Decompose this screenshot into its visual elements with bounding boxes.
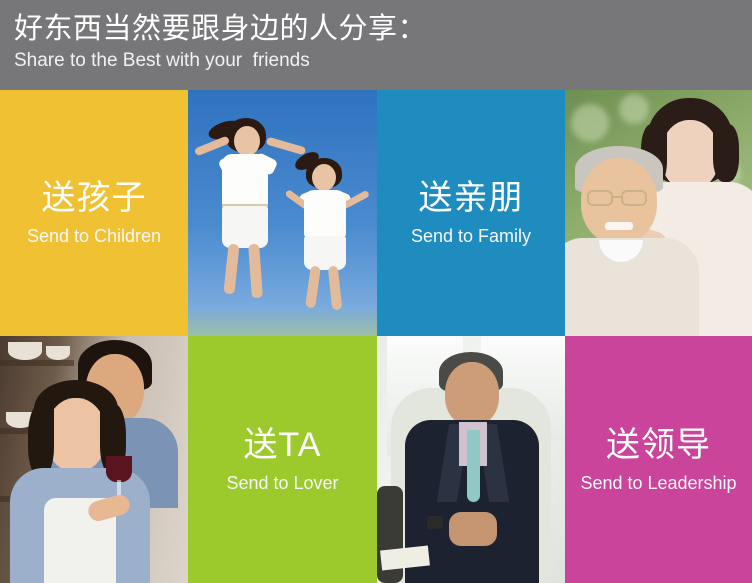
header-title-en: Share to the Best with your friends: [14, 48, 752, 74]
tile-lover-photo[interactable]: [0, 336, 188, 583]
header-title-cn: 好东西当然要跟身边的人分享：: [14, 10, 752, 48]
tile-family-photo[interactable]: [565, 90, 752, 336]
woman-figure: [22, 380, 146, 583]
tile-label-en: Send to Family: [411, 223, 531, 249]
tile-label-cn: 送孩子: [42, 177, 147, 219]
tile-label-en: Send to Lover: [226, 470, 338, 496]
tile-children-photo[interactable]: [188, 90, 377, 336]
tile-label-cn: 送领导: [606, 424, 711, 466]
tile-label-en: Send to Leadership: [580, 470, 736, 496]
share-poster: 好东西当然要跟身边的人分享： Share to the Best with yo…: [0, 0, 752, 583]
poster-header: 好东西当然要跟身边的人分享： Share to the Best with yo…: [0, 0, 752, 90]
businessman-photo: [377, 336, 565, 583]
tile-label-cn: 送亲朋: [419, 177, 524, 219]
tile-send-to-lover[interactable]: 送TA Send to Lover: [188, 336, 377, 583]
young-couple-photo: [0, 336, 188, 583]
tile-send-to-children[interactable]: 送孩子 Send to Children: [0, 90, 188, 336]
tile-label-en: Send to Children: [27, 223, 161, 249]
elderly-couple-photo: [565, 90, 752, 336]
children-jumping-photo: [188, 90, 377, 336]
tile-grid: 送孩子 Send to Children: [0, 90, 752, 583]
tile-send-to-leadership[interactable]: 送领导 Send to Leadership: [565, 336, 752, 583]
man-figure: [565, 146, 685, 336]
child-figure-right: [288, 152, 377, 312]
tile-send-to-family[interactable]: 送亲朋 Send to Family: [377, 90, 565, 336]
tile-label-cn: 送TA: [244, 424, 322, 466]
tile-leadership-photo[interactable]: [377, 336, 565, 583]
